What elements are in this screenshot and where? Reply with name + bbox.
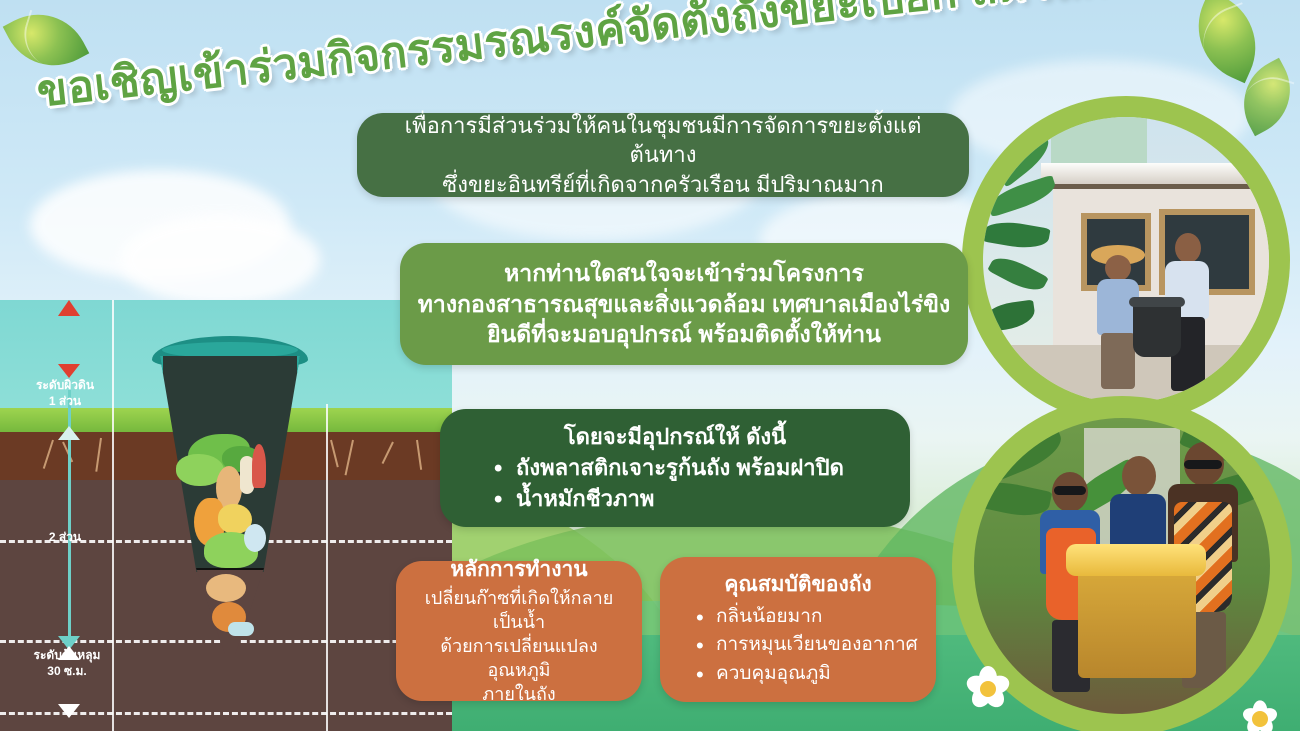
flower-center bbox=[1252, 711, 1268, 727]
equipment-heading: โดยจะมีอุปกรณ์ให้ ดังนี้ bbox=[456, 422, 894, 451]
leaf-frond bbox=[985, 175, 1058, 218]
person-head bbox=[1122, 456, 1156, 496]
invitation-box: หากท่านใดสนใจจะเข้าร่วมโครงการ ทางกองสาธ… bbox=[400, 243, 968, 365]
measure-arrow-up-icon bbox=[58, 300, 80, 316]
intro-line-2: ซึ่งขยะอินทรีย์ที่เกิดจากครัวเรือน มีปริ… bbox=[375, 170, 951, 199]
leaf-frond bbox=[987, 251, 1049, 298]
chili-scrap bbox=[252, 444, 266, 488]
person-head bbox=[1175, 233, 1201, 263]
equipment-list: ถังพลาสติกเจาะรูก้นถัง พร้อมฝาปิด น้ำหมั… bbox=[456, 453, 894, 514]
label-two-parts: 2 ส่วน bbox=[22, 530, 108, 546]
leaf-frond bbox=[983, 300, 1037, 333]
measure-arrow-down-icon bbox=[58, 704, 80, 718]
label-pit-bottom-line2: 30 ซ.ม. bbox=[4, 664, 130, 680]
list-item: น้ำหมักชีวภาพ bbox=[494, 484, 894, 514]
compost-pit-diagram: ระดับผิวดิน 1 ส่วน 2 ส่วน ระดับก้นหลุม 3… bbox=[0, 300, 452, 731]
food-scrap bbox=[206, 574, 246, 602]
leaf-frond bbox=[983, 217, 1051, 252]
bin-features-box: คุณสมบัติของถัง กลิ่นน้อยมาก การหมุนเวีย… bbox=[660, 557, 936, 702]
black-compost-bucket bbox=[1133, 303, 1181, 357]
list-item: ควบคุมอุณภูมิ bbox=[694, 660, 924, 689]
flower-icon bbox=[1238, 696, 1274, 731]
invite-line-3: ยินดีที่จะมอบอุปกรณ์ พร้อมติดตั้งให้ท่าน bbox=[414, 319, 954, 350]
features-heading: คุณสมบัติของถัง bbox=[672, 571, 924, 599]
flower-center bbox=[980, 681, 996, 697]
features-list: กลิ่นน้อยมาก การหมุนเวียนของอากาศ ควบคุม… bbox=[672, 603, 924, 689]
photo-ring-top bbox=[962, 96, 1290, 424]
yellow-bin-lid bbox=[1066, 544, 1206, 576]
invite-line-1: หากท่านใดสนใจจะเข้าร่วมโครงการ bbox=[414, 258, 954, 289]
intro-message-box: เพื่อการมีส่วนร่วมให้คนในชุมชนมีการจัดกา… bbox=[357, 113, 969, 197]
sunglasses-icon bbox=[1054, 486, 1086, 495]
measure-arrow-up-icon bbox=[58, 426, 80, 440]
cloud-shape bbox=[120, 215, 320, 305]
list-item: กลิ่นน้อยมาก bbox=[694, 603, 924, 632]
fish-bone-scrap bbox=[228, 622, 254, 636]
flower-icon bbox=[966, 666, 1010, 710]
sunglasses-icon bbox=[1184, 460, 1222, 469]
principle-line-2: ด้วยการเปลี่ยนแปลงอุณหภูมิ bbox=[410, 634, 628, 682]
label-pit-bottom-line1: ระดับก้นหลุม bbox=[4, 648, 130, 664]
principle-heading: หลักการทำงาน bbox=[410, 556, 628, 584]
label-pit-bottom: ระดับก้นหลุม 30 ซ.ม. bbox=[4, 648, 130, 679]
egg-shell-scrap bbox=[244, 524, 266, 552]
invite-line-2: ทางกองสาธารณสุขและสิ่งแวดล้อม เทศบาลเมือ… bbox=[414, 289, 954, 320]
intro-line-1: เพื่อการมีส่วนร่วมให้คนในชุมชนมีการจัดกา… bbox=[375, 111, 951, 170]
label-surface-level-line1: ระดับผิวดิน bbox=[10, 378, 120, 394]
list-item: การหมุนเวียนของอากาศ bbox=[694, 631, 924, 660]
vertical-guide-line bbox=[326, 404, 328, 731]
measure-arrow-down-icon bbox=[58, 364, 80, 378]
poster-canvas: ระดับผิวดิน 1 ส่วน 2 ส่วน ระดับก้นหลุม 3… bbox=[0, 0, 1300, 731]
person-head bbox=[1105, 255, 1131, 281]
list-item: ถังพลาสติกเจาะรูก้นถัง พร้อมฝาปิด bbox=[494, 453, 894, 483]
label-surface-level: ระดับผิวดิน 1 ส่วน bbox=[10, 378, 120, 409]
photo-women-with-yellow-bin bbox=[974, 418, 1270, 714]
yellow-compost-bin bbox=[1078, 568, 1196, 678]
photo-residents-with-bucket bbox=[983, 117, 1269, 403]
principle-line-3: ภายในถัง bbox=[410, 682, 628, 706]
label-surface-level-line2: 1 ส่วน bbox=[10, 394, 120, 410]
person-trousers bbox=[1101, 333, 1135, 389]
equipment-box: โดยจะมีอุปกรณ์ให้ ดังนี้ ถังพลาสติกเจาะร… bbox=[440, 409, 910, 527]
working-principle-box: หลักการทำงาน เปลี่ยนก๊าซที่เกิดให้กลายเป… bbox=[396, 561, 642, 701]
buried-bin-illustration bbox=[160, 336, 300, 666]
principle-line-1: เปลี่ยนก๊าซที่เกิดให้กลายเป็นน้ำ bbox=[410, 586, 628, 634]
